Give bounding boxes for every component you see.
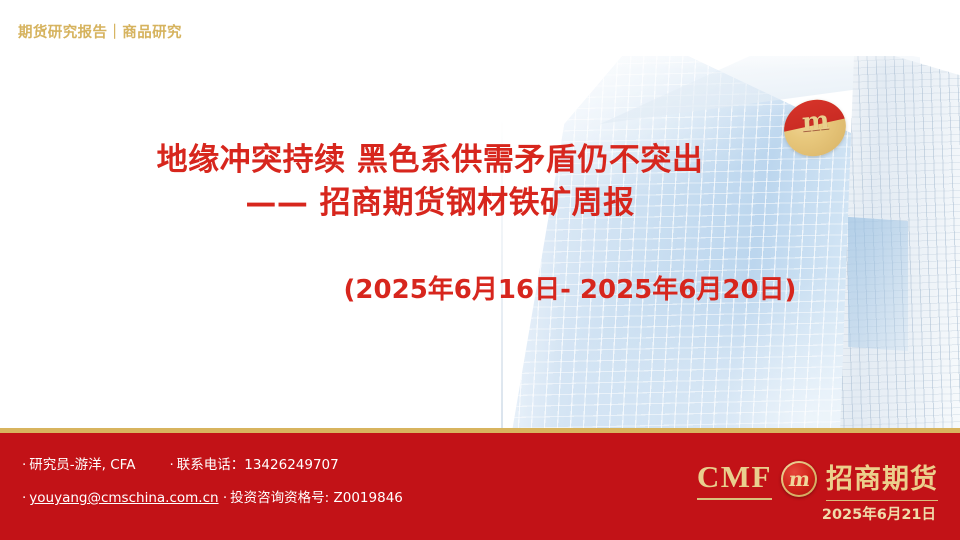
company-logo: CMF m 招商期货 [697, 457, 938, 501]
logo-latin-text: CMF [697, 459, 772, 500]
footer-contact-line-1: ·研究员-游洋, CFA·联系电话：13426249707 [22, 453, 339, 473]
logo-emblem-monogram: m [788, 469, 810, 489]
header-bar: 期货研究报告｜商品研究 [0, 0, 960, 56]
report-period-subtitle: (2025年6月16日- 2025年6月20日) [0, 269, 960, 306]
footer-contact-line-2: ·youyang@cmschina.com.cn ·投资咨询资格号: Z0019… [22, 486, 403, 506]
bullet-icon: · [223, 490, 227, 506]
logo-chinese-text: 招商期货 [826, 457, 938, 501]
page-title-line-2: —— 招商期货钢材铁矿周报 [0, 177, 880, 222]
contact-phone: 联系电话：13426249707 [177, 457, 339, 473]
publication-date: 2025年6月21日 [822, 503, 936, 524]
bullet-icon: · [169, 457, 173, 473]
bullet-icon: · [22, 490, 26, 506]
report-cover-slide: m 期货研究报告｜商品研究 地缘冲突持续 黑色系供需矛盾仍不突出 —— 招商期货… [0, 0, 960, 540]
glass-tower-side-slab [840, 44, 960, 432]
page-title-line-1: 地缘冲突持续 黑色系供需矛盾仍不突出 [0, 134, 860, 179]
bullet-icon: · [22, 457, 26, 473]
report-category-kicker: 期货研究报告｜商品研究 [18, 21, 182, 42]
contact-email-link[interactable]: youyang@cmschina.com.cn [29, 490, 218, 506]
footer-bar: ·研究员-游洋, CFA·联系电话：13426249707 ·youyang@c… [0, 433, 960, 540]
license-number: 投资咨询资格号: Z0019846 [230, 490, 403, 506]
logo-emblem-icon: m [781, 461, 817, 497]
analyst-name: 研究员-游洋, CFA [29, 457, 135, 473]
